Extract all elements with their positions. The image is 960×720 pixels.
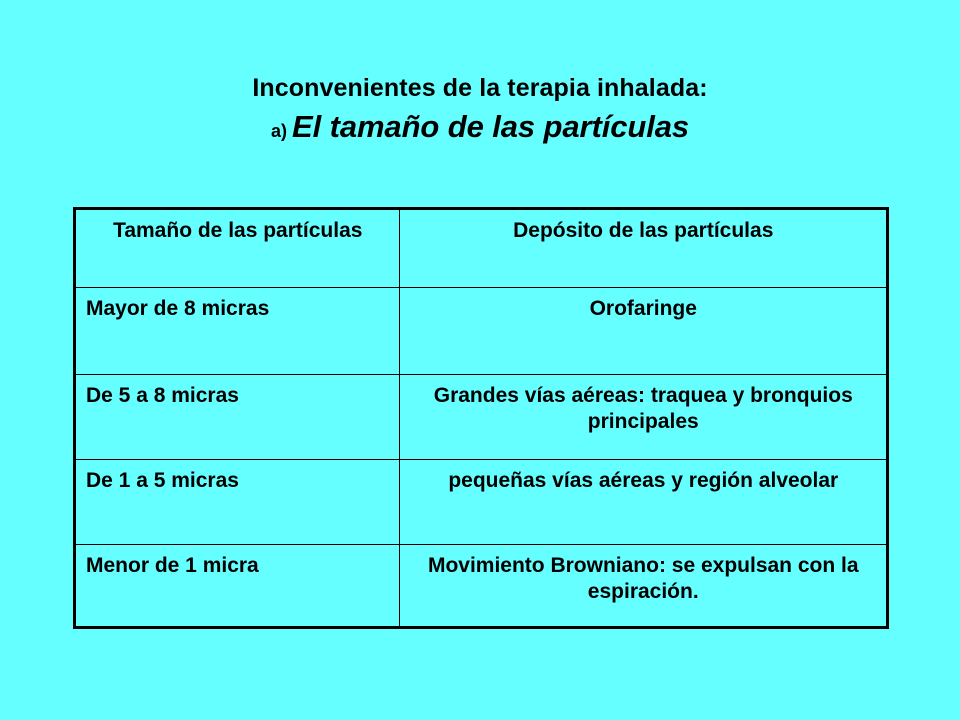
title-line-secondary: a)El tamaño de las partículas xyxy=(0,111,960,142)
cell-particle-size: De 1 a 5 micras xyxy=(76,459,399,544)
cell-particle-deposit: Movimiento Browniano: se expulsan con la… xyxy=(399,544,886,626)
cell-particle-deposit: Orofaringe xyxy=(399,287,886,374)
cell-particle-size: Menor de 1 micra xyxy=(76,544,399,626)
column-header-particle-deposit: Depósito de las partículas xyxy=(399,210,886,287)
table-row: Menor de 1 micra Movimiento Browniano: s… xyxy=(76,544,886,626)
slide-canvas: Inconvenientes de la terapia inhalada: a… xyxy=(0,0,960,720)
cell-particle-size: Mayor de 8 micras xyxy=(76,287,399,374)
cell-particle-deposit: pequeñas vías aéreas y región alveolar xyxy=(399,459,886,544)
title-list-marker: a) xyxy=(271,121,287,141)
title-emphasis-text: El tamaño de las partículas xyxy=(292,109,689,144)
table-row: Mayor de 8 micras Orofaringe xyxy=(76,287,886,374)
particle-size-table: Tamaño de las partículas Depósito de las… xyxy=(76,210,886,626)
title-line-primary: Inconvenientes de la terapia inhalada: xyxy=(0,76,960,101)
column-header-particle-size: Tamaño de las partículas xyxy=(76,210,399,287)
table-row: De 1 a 5 micras pequeñas vías aéreas y r… xyxy=(76,459,886,544)
page-title: Inconvenientes de la terapia inhalada: a… xyxy=(0,76,960,142)
table-header-row: Tamaño de las partículas Depósito de las… xyxy=(76,210,886,287)
particle-size-table-container: Tamaño de las partículas Depósito de las… xyxy=(73,207,889,629)
cell-particle-deposit: Grandes vías aéreas: traquea y bronquios… xyxy=(399,374,886,459)
table-row: De 5 a 8 micras Grandes vías aéreas: tra… xyxy=(76,374,886,459)
cell-particle-size: De 5 a 8 micras xyxy=(76,374,399,459)
